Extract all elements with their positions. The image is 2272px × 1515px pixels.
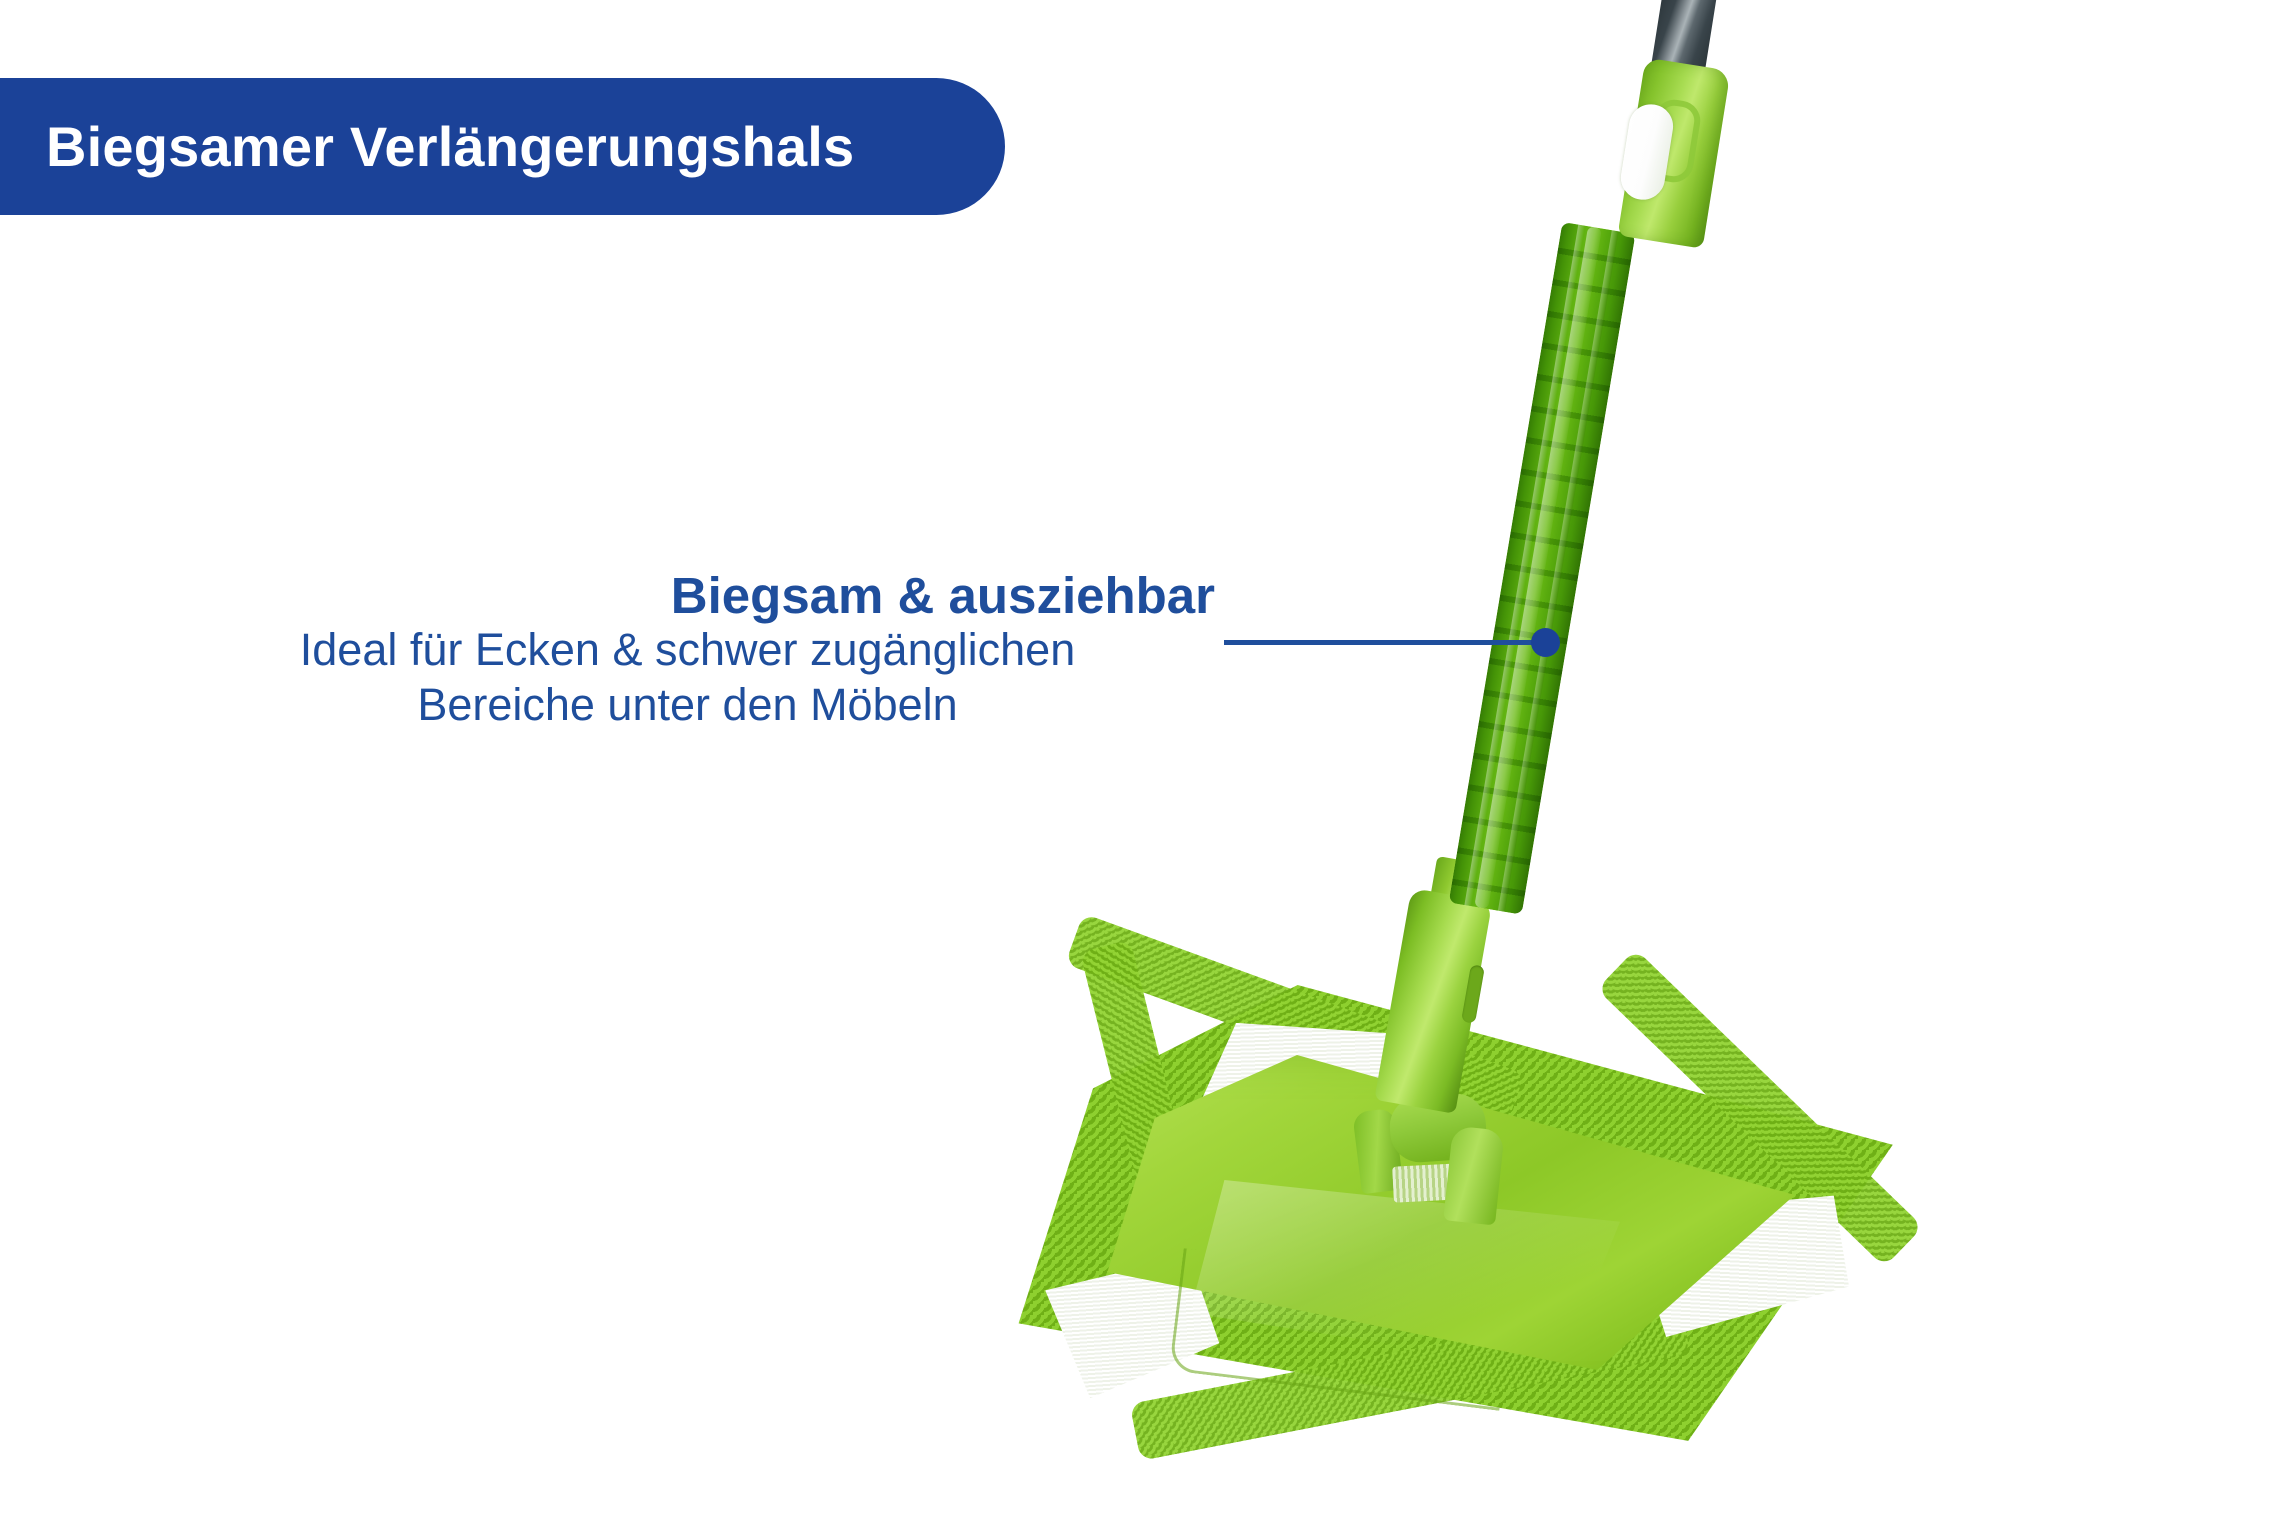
sleeve-slot xyxy=(1461,964,1485,1024)
fabric-strip-top xyxy=(1198,1016,1442,1154)
release-button xyxy=(1618,101,1676,203)
product-feature-image: Biegsamer Verlängerungshals xyxy=(0,0,2272,1515)
plate-seam-line xyxy=(1169,1248,1515,1411)
callout-leader-line xyxy=(1224,640,1546,645)
release-button-ring xyxy=(1645,97,1703,185)
telescopic-pole xyxy=(1646,0,1717,104)
product-image xyxy=(0,0,2272,1515)
pad-edge-bottom xyxy=(1130,1297,1691,1461)
fabric-strip-left xyxy=(1043,1254,1222,1401)
mop-head-group xyxy=(0,0,2272,1515)
lower-sleeve xyxy=(1374,888,1492,1114)
neck-highlight xyxy=(1474,226,1602,909)
fabric-strip-right xyxy=(1596,1184,1854,1347)
swivel-flange-left xyxy=(1352,1108,1404,1195)
callout-leader-dot xyxy=(1531,628,1560,657)
feature-callout: Biegsam & ausziehbar Ideal für Ecken & s… xyxy=(150,568,1225,733)
callout-line-1: Ideal für Ecken & schwer zugänglichen xyxy=(150,623,1225,678)
swivel-flange-right xyxy=(1443,1126,1505,1226)
mop-base-plate xyxy=(1060,1055,1850,1405)
swivel-ridge-texture xyxy=(1392,1163,1462,1203)
swivel-joint-body xyxy=(1388,1092,1488,1165)
header-banner: Biegsamer Verlängerungshals xyxy=(0,78,1005,215)
callout-line-2: Bereiche unter den Möbeln xyxy=(150,678,1225,733)
lower-rod-segment xyxy=(1425,856,1488,934)
banner-title: Biegsamer Verlängerungshals xyxy=(0,119,854,175)
pad-edge-top xyxy=(1065,913,1525,1124)
pad-edge-left xyxy=(1080,940,1210,1273)
neck-rail-left xyxy=(1464,225,1585,907)
adjustment-collar xyxy=(1618,57,1731,248)
plate-gloss-highlight xyxy=(1190,1180,1620,1370)
callout-heading: Biegsam & ausziehbar xyxy=(150,568,1225,623)
neck-rail-right xyxy=(1498,230,1619,912)
flexible-extension-neck xyxy=(1449,222,1636,915)
microfibre-pad xyxy=(1000,985,1930,1455)
pad-edge-right xyxy=(1597,949,1924,1267)
